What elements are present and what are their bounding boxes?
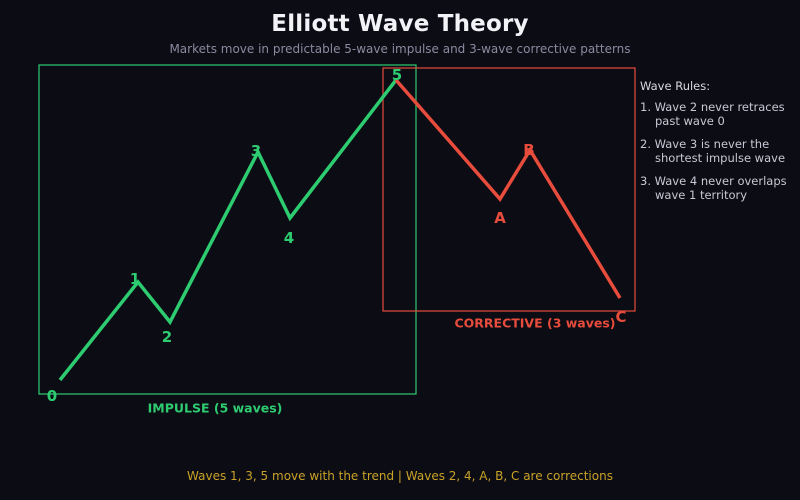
wave-rule-1: 1. Wave 2 never retraces past wave 0 [640,100,798,128]
wave-point-label-3: 3 [251,142,261,160]
impulse-zone-label: IMPULSE (5 waves) [148,401,283,416]
wave-point-label-a: A [494,209,506,227]
wave-point-label-2: 2 [162,328,172,346]
wave-polylines-layer [60,80,620,380]
wave-point-label-5: 5 [392,66,402,84]
page-subtitle: Markets move in predictable 5-wave impul… [0,42,800,56]
wave-rules-panel: Wave Rules: 1. Wave 2 never retraces pas… [640,79,798,211]
wave-point-label-b: B [523,141,534,159]
chart-canvas: Elliott Wave Theory Markets move in pred… [0,0,800,500]
zone-rectangles-layer [39,65,635,394]
page-title: Elliott Wave Theory [0,11,800,37]
wave-point-label-c: C [615,308,626,326]
wave-rules-heading: Wave Rules: [640,79,798,93]
wave-point-label-0: 0 [47,387,57,405]
corrective-wave-line [396,80,620,298]
wave-point-label-1: 1 [130,270,140,288]
corrective-zone [383,68,635,311]
wave-rule-3: 3. Wave 4 never overlaps wave 1 territor… [640,174,798,202]
corrective-zone-label: CORRECTIVE (3 waves) [454,316,615,331]
wave-rule-2: 2. Wave 3 is never the shortest impulse … [640,137,798,165]
impulse-zone [39,65,416,394]
wave-point-label-4: 4 [284,229,294,247]
impulse-wave-line [60,80,396,380]
footer-note: Waves 1, 3, 5 move with the trend | Wave… [0,469,800,483]
